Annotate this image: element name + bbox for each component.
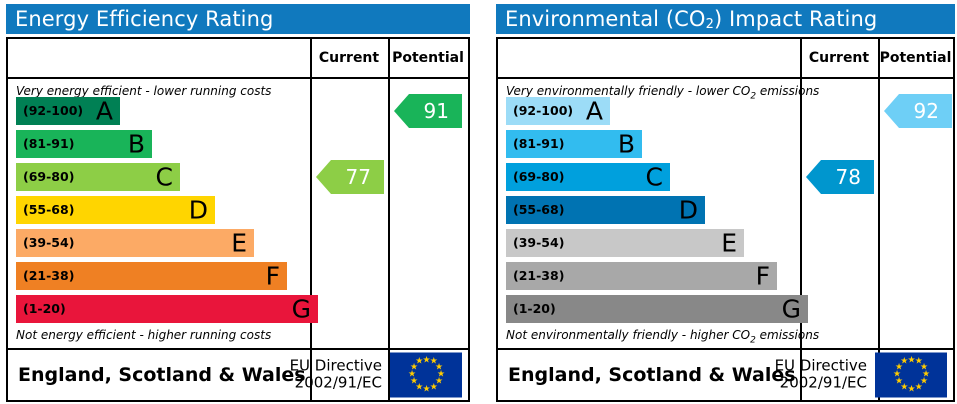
band-range-a: (92-100) bbox=[16, 105, 83, 118]
band-bar-a: (92-100) A bbox=[16, 97, 120, 125]
band-letter-g: G bbox=[782, 297, 801, 322]
co2-title-suffix: ) Impact Rating bbox=[714, 7, 877, 31]
band-letter-g: G bbox=[292, 297, 311, 322]
band-bar-g: (1-20) G bbox=[16, 295, 318, 323]
energy-efficiency-grid: Current Potential Very energy efficient … bbox=[6, 37, 470, 402]
band-range-b: (81-91) bbox=[506, 138, 564, 151]
band-letter-f: F bbox=[756, 264, 770, 289]
band-range-f: (21-38) bbox=[506, 270, 564, 283]
band-range-g: (1-20) bbox=[16, 303, 66, 316]
band-range-c: (69-80) bbox=[16, 171, 74, 184]
band-range-d: (55-68) bbox=[16, 204, 74, 217]
column-header-current: Current bbox=[310, 39, 388, 77]
band-bar-g: (1-20) G bbox=[506, 295, 808, 323]
eu-star: ★ bbox=[900, 359, 907, 366]
directive-line-1: EU Directive bbox=[290, 358, 382, 375]
band-bar-b: (81-91) B bbox=[16, 130, 152, 158]
band-range-g: (1-20) bbox=[506, 303, 556, 316]
current-rating-badge: 78 bbox=[806, 160, 874, 194]
band-range-f: (21-38) bbox=[16, 270, 74, 283]
band-bar-b: (81-91) B bbox=[506, 130, 642, 158]
band-letter-a: A bbox=[586, 99, 603, 124]
band-letter-b: B bbox=[618, 132, 635, 157]
band-letter-b: B bbox=[128, 132, 145, 157]
co2-title-subscript: 2 bbox=[706, 17, 714, 32]
band-bar-d: (55-68) D bbox=[16, 196, 215, 224]
eu-star: ★ bbox=[430, 384, 437, 391]
band-bar-c: (69-80) C bbox=[506, 163, 670, 191]
divider-potential-left bbox=[388, 39, 390, 400]
band-letter-c: C bbox=[646, 165, 663, 190]
eu-star: ★ bbox=[415, 359, 422, 366]
header-underline bbox=[498, 77, 953, 79]
band-letter-a: A bbox=[96, 99, 113, 124]
eu-star: ★ bbox=[410, 379, 417, 386]
band-bar-f: (21-38) F bbox=[506, 262, 777, 290]
co2-impact-panel: Environmental (CO2) Impact Rating Curren… bbox=[490, 0, 957, 404]
current-rating-badge: 77 bbox=[316, 160, 384, 194]
eu-star: ★ bbox=[895, 379, 902, 386]
band-bar-d: (55-68) D bbox=[506, 196, 705, 224]
footer-directive: EU Directive 2002/91/EC bbox=[775, 358, 867, 393]
co2-footer: England, Scotland & Wales EU Directive 2… bbox=[498, 350, 953, 400]
directive-line-2: 2002/91/EC bbox=[775, 375, 867, 392]
eu-star: ★ bbox=[408, 372, 415, 379]
eu-flag-icon: ★★★★★★★★★★★★ bbox=[875, 353, 947, 398]
energy-efficiency-title-text: Energy Efficiency Rating bbox=[15, 7, 273, 31]
co2-title-prefix: Environmental (CO bbox=[505, 7, 706, 31]
footer-region-label: England, Scotland & Wales bbox=[18, 364, 306, 386]
column-header-potential: Potential bbox=[878, 39, 953, 77]
eu-star: ★ bbox=[908, 386, 915, 393]
band-range-e: (39-54) bbox=[506, 237, 564, 250]
band-letter-c: C bbox=[156, 165, 173, 190]
directive-line-2: 2002/91/EC bbox=[290, 375, 382, 392]
band-letter-e: E bbox=[721, 231, 737, 256]
eu-star: ★ bbox=[423, 357, 430, 364]
eu-star: ★ bbox=[423, 386, 430, 393]
band-range-c: (69-80) bbox=[506, 171, 564, 184]
co2-impact-grid: Current Potential Very environmentally f… bbox=[496, 37, 955, 402]
potential-rating-badge: 91 bbox=[394, 94, 462, 128]
co2-impact-title: Environmental (CO2) Impact Rating bbox=[496, 4, 955, 34]
footer-directive: EU Directive 2002/91/EC bbox=[290, 358, 382, 393]
caption-top: Very energy efficient - lower running co… bbox=[16, 85, 271, 97]
band-range-d: (55-68) bbox=[506, 204, 564, 217]
energy-footer: England, Scotland & Wales EU Directive 2… bbox=[8, 350, 468, 400]
band-letter-f: F bbox=[266, 264, 280, 289]
directive-line-1: EU Directive bbox=[775, 358, 867, 375]
eu-star: ★ bbox=[908, 357, 915, 364]
column-header-current: Current bbox=[800, 39, 878, 77]
column-header-potential: Potential bbox=[388, 39, 468, 77]
caption-bottom: Not energy efficient - higher running co… bbox=[16, 329, 271, 341]
divider-potential-left bbox=[878, 39, 880, 400]
caption-bottom: Not environmentally friendly - higher CO… bbox=[506, 329, 819, 345]
band-bar-c: (69-80) C bbox=[16, 163, 180, 191]
band-range-b: (81-91) bbox=[16, 138, 74, 151]
band-bar-f: (21-38) F bbox=[16, 262, 287, 290]
band-bar-a: (92-100) A bbox=[506, 97, 610, 125]
band-letter-d: D bbox=[679, 198, 698, 223]
band-range-a: (92-100) bbox=[506, 105, 573, 118]
band-bar-e: (39-54) E bbox=[506, 229, 744, 257]
potential-rating-badge: 92 bbox=[884, 94, 952, 128]
epc-chart-stage: Energy Efficiency Rating Current Potenti… bbox=[0, 0, 957, 404]
band-range-e: (39-54) bbox=[16, 237, 74, 250]
eu-star: ★ bbox=[915, 384, 922, 391]
footer-region-label: England, Scotland & Wales bbox=[508, 364, 796, 386]
eu-star: ★ bbox=[893, 372, 900, 379]
header-underline bbox=[8, 77, 468, 79]
divider-current-left bbox=[310, 39, 312, 400]
energy-efficiency-panel: Energy Efficiency Rating Current Potenti… bbox=[0, 0, 472, 404]
eu-flag-icon: ★★★★★★★★★★★★ bbox=[390, 353, 462, 398]
energy-efficiency-title: Energy Efficiency Rating bbox=[6, 4, 470, 34]
band-letter-d: D bbox=[189, 198, 208, 223]
band-bar-e: (39-54) E bbox=[16, 229, 254, 257]
band-letter-e: E bbox=[231, 231, 247, 256]
